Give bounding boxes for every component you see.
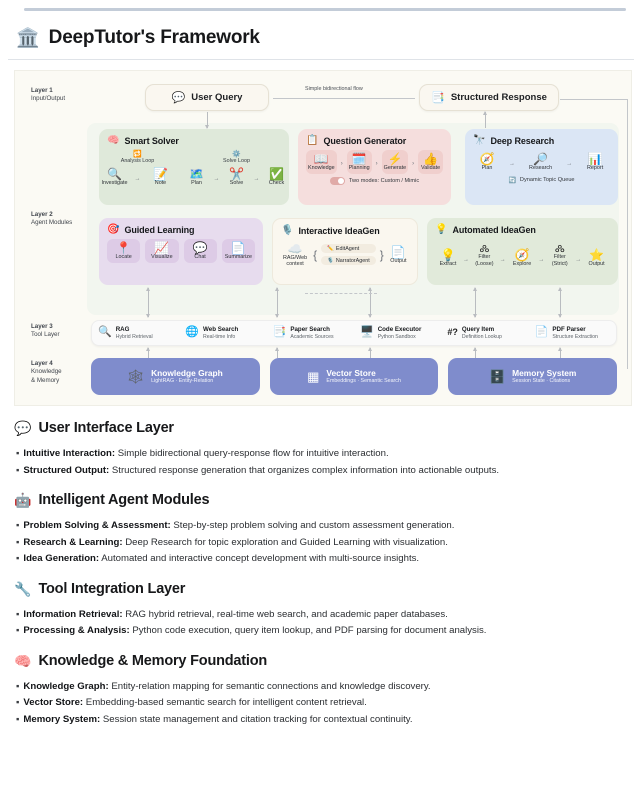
step-label: Plan [482,166,493,172]
book-icon: 📖 [314,153,329,165]
chat-bubbles-icon: 💬 [193,242,208,254]
step-label: Generate [384,166,406,172]
module-title-row: 🧠 Smart Solver [107,135,281,146]
layer-label-4: Layer 4 Knowledge & Memory [31,360,62,385]
analysis-loop-caption: Analysis Loop [99,158,177,164]
microphone-icon: 🎙️ [327,258,334,264]
connector-tools-foundation-5 [560,348,561,358]
paper-icon: 📑 [273,327,287,338]
module-title-row: 🎙️ Interactive IdeaGen [281,225,409,236]
step-sublabel: (Loose) [475,262,493,268]
module-title: Smart Solver [124,136,178,146]
pencil-icon: ✏️ [327,246,334,252]
compass-icon: 🧭 [515,249,530,261]
tool-text: Query Item Definition Lookup [462,326,502,340]
section-header: 🔧 Tool Integration Layer [14,581,630,597]
grid-dots-icon: ▦ [307,370,319,383]
arrow-icon: → [135,176,141,189]
bullet-dot: ▪ [16,714,19,725]
title-divider [8,59,634,60]
thumbs-up-icon: 👍 [423,153,438,165]
step-label: Solve [230,181,244,187]
tool-rag[interactable]: 🔍 RAG Hybrid Retrieval [92,326,179,340]
section-bullets: ▪Information Retrieval: RAG hybrid retri… [14,607,630,640]
section-header: 🧠 Knowledge & Memory Foundation [14,653,630,669]
bullet-text: Automated and interactive concept develo… [99,553,419,564]
step-label: Research [529,166,552,172]
foundation-memory-system[interactable]: 🗄️ Memory System Session State · Citatio… [448,358,617,395]
step-label: Planning [349,166,370,172]
tool-text: Paper Search Academic Sources [290,326,333,340]
bullet-text: Simple bidirectional query-response flow… [115,448,389,459]
step-check[interactable]: ✅ Check [264,165,290,189]
step-note[interactable]: 📝 Note [145,165,177,189]
module-smart-solver[interactable]: 🧠 Smart Solver 🔁 Analysis Loop 🔍 Investi… [99,129,289,205]
bullet-text: Deep Research for topic exploration and … [123,537,448,548]
terminal-icon: 🖥️ [360,327,374,338]
step-extract[interactable]: 💡 Extract [435,246,461,270]
module-title-row: 💡 Automated IdeaGen [435,224,610,235]
section-title: Knowledge & Memory Foundation [38,653,267,669]
speech-balloon-icon: 💬 [14,421,31,435]
module-title: Guided Learning [124,225,194,235]
foundation-row: 🕸️ Knowledge Graph LightRAG · Entity-Rel… [91,358,617,395]
modules-to-response-arrow [485,112,486,128]
clipboard-icon: 📋 [306,135,318,146]
bullet-dot: ▪ [16,520,19,531]
refresh-icon: 🔄 [508,177,515,184]
arrow-icon: → [463,257,469,270]
connector-tools-foundation-1 [148,348,149,358]
source-label: RAG/Web context [283,256,307,268]
tools-icon: ✂️ [229,168,244,180]
bullet-text: Entity-relation mapping for semantic con… [109,681,431,692]
flow-note: Simple bidirectional flow [305,86,363,92]
document-search-icon: 🔎 [533,153,548,165]
check-circle-icon: ✅ [269,168,284,180]
connector-guided-tools [148,288,149,317]
connector-tools-foundation-2 [277,348,278,358]
deep-research-queue: 🔄 Dynamic Topic Queue [473,177,610,184]
structured-response-node[interactable]: 📑 Structured Response [419,84,559,111]
smart-solver-loops: 🔁 Analysis Loop 🔍 Investigate → 📝 Note [107,150,281,189]
mode-toggle[interactable] [330,177,345,185]
deep-research-steps: 🧭 Plan → 🔎 Research → 📊 Report [473,150,610,174]
section-knowledge-memory-foundation: 🧠 Knowledge & Memory Foundation ▪Knowled… [14,653,630,729]
bullet-dot: ▪ [16,697,19,708]
arrow-icon: → [254,176,260,189]
arrow-icon: → [509,161,515,174]
foundation-vector-store[interactable]: ▦ Vector Store Embeddings · Semantic Sea… [270,358,439,395]
list-item: ▪Intuitive Interaction: Simple bidirecti… [16,446,630,463]
tool-sub: Academic Sources [290,334,333,340]
telescope-icon: 🔭 [473,135,485,146]
arrow-icon: › [341,161,343,174]
tool-layer-bar: 🔍 RAG Hybrid Retrieval 🌐 Web Search Real… [91,320,617,346]
tool-pdf-parser[interactable]: 📄 PDF Parser Structure Extraction [529,326,616,340]
bullet-term: Structured Output: [23,465,109,476]
arrow-icon: › [376,161,378,174]
module-title: Interactive IdeaGen [298,226,379,236]
arrow-icon: → [538,257,544,270]
tool-sub: Structure Extraction [552,334,598,340]
agent-label: NarratorAgent [336,258,370,264]
module-title-row: 📋 Question Generator [306,135,443,146]
foundation-text: Vector Store Embeddings · Semantic Searc… [326,368,401,385]
arrow-icon: → [500,257,506,270]
solve-loop: ⚙️ Solve Loop 🗺️ Plan → ✂️ Solve → [184,150,290,189]
brain-icon: 🧠 [14,654,31,668]
list-item: ▪Memory System: Session state management… [16,712,630,729]
tool-sub: Hybrid Retrieval [116,334,153,340]
agent-editagent[interactable]: ✏️ EditAgent [321,244,376,253]
tool-text: Code Executor Python Sandbox [378,326,422,340]
module-question-generator[interactable]: 📋 Question Generator 📖 Knowledge › 🗓️ Pl… [298,129,451,205]
bullet-dot: ▪ [16,553,19,564]
foundation-text: Memory System Session State · Citations [512,368,576,385]
tool-title: Code Executor [378,326,422,333]
tool-title: Web Search [203,326,238,333]
list-item: ▪Vector Store: Embedding-based semantic … [16,695,630,712]
solve-loop-steps: 🗺️ Plan → ✂️ Solve → ✅ Check [184,165,290,189]
bullet-term: Idea Generation: [23,553,99,564]
step-summarize[interactable]: 📄 Summarize [222,239,255,263]
tool-paper-search[interactable]: 📑 Paper Search Academic Sources [267,326,354,340]
description-sections: 💬 User Interface Layer ▪Intuitive Intera… [0,406,642,728]
step-label: Note [155,181,166,187]
note-icon: 📝 [153,168,168,180]
arrow-icon: › [412,161,414,174]
tool-title: RAG [116,326,153,333]
tool-query-item[interactable]: #? Query Item Definition Lookup [441,326,528,340]
section-bullets: ▪Knowledge Graph: Entity-relation mappin… [14,679,630,729]
pdf-icon: 📄 [535,327,549,338]
guided-learning-steps: 📍 Locate 📈 Visualize 💬 Chat 📄 Summarize [107,239,255,263]
hash-question-icon: #? [447,328,458,337]
return-path-top [560,99,628,100]
bullet-term: Problem Solving & Assessment: [23,520,170,531]
structured-response-label: Structured Response [451,92,547,103]
step-explore[interactable]: 🧭 Explore [508,246,537,270]
connector-tools-foundation-4 [475,348,476,358]
step-generate[interactable]: ⚡ Generate [382,150,408,174]
step-label: Check [269,181,284,187]
funnel-icon: 🝆 [555,242,565,254]
tool-title: PDF Parser [552,326,598,333]
foundation-title: Knowledge Graph [151,368,223,379]
tool-text: RAG Hybrid Retrieval [116,326,153,340]
bullet-text: Structured response generation that orga… [109,465,499,476]
list-item: ▪Idea Generation: Automated and interact… [16,551,630,568]
calendar-icon: 🗓️ [352,153,367,165]
step-label: Validate [421,166,440,172]
magnifier-icon: 🔍 [107,168,122,180]
step-sublabel: (Strict) [552,262,568,268]
step-filter-loose[interactable]: 🝆 Filter (Loose) [471,239,498,270]
module-title-row: 🔭 Deep Research [473,135,610,146]
step-label: Report [587,166,603,172]
microphone-icon: 🎙️ [281,225,293,236]
cloud-icon: ☁️ [288,243,303,255]
step-validate[interactable]: 👍 Validate [418,150,443,174]
speech-balloon-icon: 💬 [172,91,186,104]
module-title: Question Generator [323,136,406,146]
bullet-term: Knowledge Graph: [23,681,108,692]
brace-icon: } [380,248,384,262]
loop-refresh-icon: 🔁 [99,150,177,158]
source-rag-web[interactable]: ☁️ RAG/Web context [281,240,309,270]
step-chat[interactable]: 💬 Chat [184,239,217,263]
step-label: Locate [116,255,132,261]
lightbulb-icon: 💡 [441,249,456,261]
step-plan[interactable]: 🗺️ Plan [184,165,210,189]
tool-web-search[interactable]: 🌐 Web Search Real-time Info [179,326,266,340]
interactive-ideagen-flow: ☁️ RAG/Web context { ✏️ EditAgent 🎙️ Nar… [281,240,409,270]
step-label: Output [589,262,605,268]
step-plan[interactable]: 🧭 Plan [473,150,501,174]
module-title: Automated IdeaGen [452,225,535,235]
foundation-sub: Session State · Citations [512,378,576,385]
bullet-text: Step-by-step problem solving and custom … [171,520,455,531]
question-generator-steps: 📖 Knowledge › 🗓️ Planning › ⚡ Generate ›… [306,150,443,174]
compass-icon: 🧭 [479,153,494,165]
bullet-text: RAG hybrid retrieval, real-time web sear… [123,609,448,620]
question-generator-modes[interactable]: Two modes: Custom / Mimic [306,177,443,185]
bullet-dot: ▪ [16,465,19,476]
solve-loop-caption: Solve Loop [184,158,290,164]
step-label: Summarize [225,255,252,261]
analysis-loop-steps: 🔍 Investigate → 📝 Note [99,165,177,189]
report-chart-icon: 📊 [588,153,603,165]
connector-interactive-tools [277,288,278,317]
pin-person-icon: 📍 [116,242,131,254]
layer-label-3: Layer 3 Tool Layer [31,323,60,340]
tool-title: Paper Search [290,326,333,333]
globe-icon: 🌐 [185,327,199,338]
agent-label: EditAgent [336,246,359,252]
tool-text: PDF Parser Structure Extraction [552,326,598,340]
robot-icon: 🤖 [14,493,31,507]
lightning-icon: ⚡ [387,153,402,165]
tool-text: Web Search Real-time Info [203,326,238,340]
gear-icon: ⚙️ [184,150,290,158]
graph-nodes-icon: 🕸️ [128,370,144,383]
module-deep-research[interactable]: 🔭 Deep Research 🧭 Plan → 🔎 Research → 📊 … [465,129,618,205]
step-label: Chat [194,255,205,261]
document-icon: 📑 [431,91,445,104]
bullet-term: Vector Store: [23,697,83,708]
connector-auto-tools [475,288,476,317]
step-label: Extract [440,262,457,268]
bullet-dot: ▪ [16,448,19,459]
step-research[interactable]: 🔎 Research [523,150,558,174]
agent-list: ✏️ EditAgent 🎙️ NarratorAgent [321,244,376,265]
bullet-dot: ▪ [16,625,19,636]
bullet-term: Memory System: [23,714,100,725]
list-item: ▪Problem Solving & Assessment: Step-by-s… [16,518,630,535]
page-title: 🏛️ DeepTutor's Framework [0,11,642,59]
step-filter-strict[interactable]: 🝆 Filter (Strict) [546,239,573,270]
module-automated-ideagen[interactable]: 💡 Automated IdeaGen 💡 Extract → 🝆 Filter… [427,218,618,285]
database-icon: 🗄️ [489,370,505,383]
section-user-interface-layer: 💬 User Interface Layer ▪Intuitive Intera… [14,420,630,479]
query-to-modules-arrow [207,112,208,128]
foundation-knowledge-graph[interactable]: 🕸️ Knowledge Graph LightRAG · Entity-Rel… [91,358,260,395]
foundation-sub: Embeddings · Semantic Search [326,378,401,385]
search-icon: 🔍 [98,327,112,338]
step-output[interactable]: ⭐ Output [583,246,610,270]
step-label: Plan [191,181,202,187]
list-item: ▪Processing & Analysis: Python code exec… [16,623,630,640]
bullet-term: Intuitive Interaction: [23,448,115,459]
step-label: Explore [513,262,531,268]
framework-diagram: Layer 1 Input/Output Layer 2 Agent Modul… [14,70,632,406]
module-title-row: 🎯 Guided Learning [107,224,255,235]
list-item: ▪Information Retrieval: RAG hybrid retri… [16,607,630,624]
section-title: Tool Integration Layer [38,581,185,597]
flow-connector-line [273,98,415,99]
output-label: Output [390,259,406,265]
foundation-title: Vector Store [326,368,401,379]
list-item: ▪Knowledge Graph: Entity-relation mappin… [16,679,630,696]
section-bullets: ▪Intuitive Interaction: Simple bidirecti… [14,446,630,479]
step-planning[interactable]: 🗓️ Planning [347,150,372,174]
chart-icon: 📈 [154,242,169,254]
tool-sub: Python Sandbox [378,334,422,340]
user-query-label: User Query [191,92,242,103]
analysis-loop: 🔁 Analysis Loop 🔍 Investigate → 📝 Note [99,150,177,189]
bullet-text: Embedding-based semantic search for inte… [83,697,367,708]
bullet-term: Research & Learning: [23,537,122,548]
step-label: Visualize [151,255,172,261]
step-label: Knowledge [308,166,335,172]
step-locate[interactable]: 📍 Locate [107,239,140,263]
return-path-line [627,99,628,369]
step-solve[interactable]: ✂️ Solve [224,165,250,189]
user-query-node[interactable]: 💬 User Query [145,84,269,111]
section-bullets: ▪Problem Solving & Assessment: Step-by-s… [14,518,630,568]
section-title: Intelligent Agent Modules [38,492,209,508]
bullet-dot: ▪ [16,537,19,548]
section-tool-integration-layer: 🔧 Tool Integration Layer ▪Information Re… [14,581,630,640]
arrow-icon: → [566,161,572,174]
step-knowledge[interactable]: 📖 Knowledge [306,150,337,174]
step-report[interactable]: 📊 Report [580,150,610,174]
tool-code-executor[interactable]: 🖥️ Code Executor Python Sandbox [354,326,441,340]
interactive-output[interactable]: 📄 Output [388,243,409,267]
lightbulb-icon: 💡 [435,224,447,235]
bullet-text: Python code execution, query item lookup… [130,625,487,636]
connector-tools-foundation-3 [370,348,371,358]
section-header: 🤖 Intelligent Agent Modules [14,492,630,508]
list-item: ▪Structured Output: Structured response … [16,463,630,480]
step-investigate[interactable]: 🔍 Investigate [99,165,131,189]
list-item: ▪Research & Learning: Deep Research for … [16,535,630,552]
connector-auto-tools-2 [560,288,561,317]
page-root: 🏛️ DeepTutor's Framework Layer 1 Input/O… [0,8,642,800]
arrow-icon: → [214,176,220,189]
mode-label: Two modes: Custom / Mimic [349,178,419,184]
bullet-dot: ▪ [16,681,19,692]
bullet-dot: ▪ [16,609,19,620]
section-intelligent-agent-modules: 🤖 Intelligent Agent Modules ▪Problem Sol… [14,492,630,568]
layer-label-2: Layer 2 Agent Modules [31,211,72,228]
foundation-sub: LightRAG · Entity-Relation [151,378,223,385]
step-visualize[interactable]: 📈 Visualize [145,239,178,263]
classical-building-icon: 🏛️ [16,29,40,48]
module-guided-learning[interactable]: 🎯 Guided Learning 📍 Locate 📈 Visualize 💬… [99,218,263,285]
step-label: Investigate [101,181,127,187]
wrench-icon: 🔧 [14,582,31,596]
tool-sub: Definition Lookup [462,334,502,340]
agent-narratoragent[interactable]: 🎙️ NarratorAgent [321,256,376,265]
automated-ideagen-steps: 💡 Extract → 🝆 Filter (Loose) → 🧭 Explore… [435,239,610,270]
foundation-text: Knowledge Graph LightRAG · Entity-Relati… [151,368,223,385]
foundation-title: Memory System [512,368,576,379]
bullet-term: Processing & Analysis: [23,625,129,636]
section-header: 💬 User Interface Layer [14,420,630,436]
map-icon: 🗺️ [189,168,204,180]
arrow-icon: → [575,257,581,270]
document-icon: 📄 [391,246,406,258]
star-icon: ⭐ [589,249,604,261]
bullet-text: Session state management and citation tr… [100,714,412,725]
brace-icon: { [313,248,317,262]
module-title: Deep Research [490,136,554,146]
brain-icon: 🧠 [107,135,119,146]
section-title: User Interface Layer [38,420,173,436]
bullet-term: Information Retrieval: [23,609,122,620]
pages-icon: 📄 [231,242,246,254]
page-title-text: DeepTutor's Framework [49,27,260,49]
tool-sub: Real-time Info [203,334,238,340]
queue-label: Dynamic Topic Queue [520,177,575,183]
module-interactive-ideagen[interactable]: 🎙️ Interactive IdeaGen ☁️ RAG/Web contex… [272,218,418,285]
target-icon: 🎯 [107,224,119,235]
dashed-connector [305,293,377,294]
funnel-icon: 🝆 [479,242,489,254]
layer-label-1: Layer 1 Input/Output [31,87,65,104]
tool-title: Query Item [462,326,502,333]
